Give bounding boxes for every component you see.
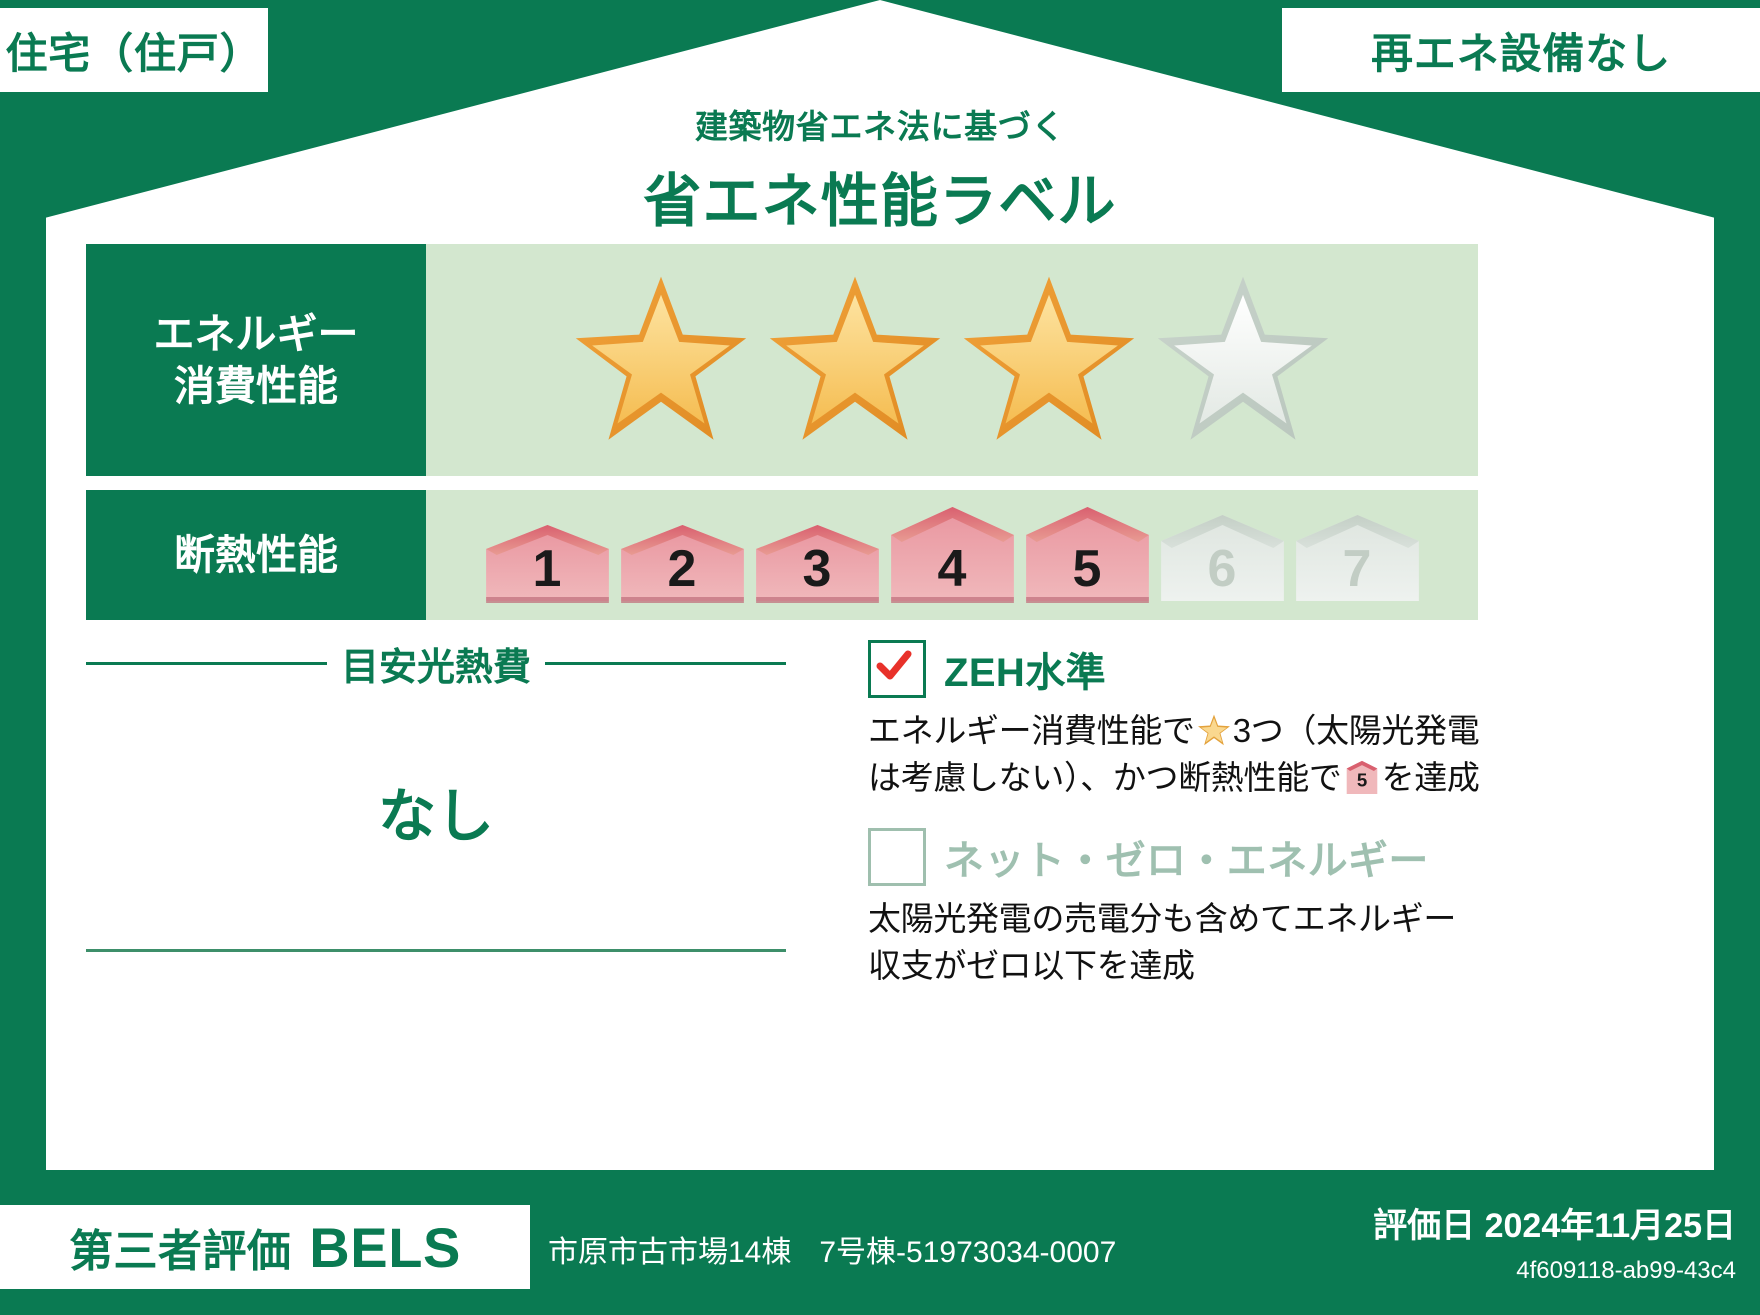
net-zero-block: ネット・ゼロ・エネルギー 太陽光発電の売電分も含めてエネルギー 収支がゼロ以下を… xyxy=(868,828,1488,990)
net-zero-title: ネット・ゼロ・エネルギー xyxy=(944,828,1429,886)
checkbox-unchecked-icon xyxy=(868,828,926,886)
utility-cost-section: 目安光熱費 なし xyxy=(86,636,786,952)
net-zero-desc-line1: 太陽光発電の売電分も含めてエネルギー xyxy=(868,900,1456,937)
inline-house-icon: 5 xyxy=(1345,760,1379,796)
zeh-standard-row: ZEH水準 xyxy=(868,640,1488,698)
title-subtitle: 建築物省エネ法に基づく xyxy=(0,100,1760,148)
insulation-grade-5-value: 5 xyxy=(1024,543,1151,595)
insulation-grade-3: 3 xyxy=(754,523,881,605)
energy-performance-row: エネルギー 消費性能 xyxy=(86,244,1478,476)
checkbox-checked-icon xyxy=(868,640,926,698)
star-icon-filled-3 xyxy=(958,273,1140,447)
energy-performance-label: エネルギー 消費性能 xyxy=(86,244,426,476)
utility-cost-bottom-rule xyxy=(86,949,786,952)
zeh-desc-part-d: を達成 xyxy=(1382,759,1480,796)
insulation-grade-1: 1 xyxy=(484,523,611,605)
energy-label-line2: 消費性能 xyxy=(154,360,359,412)
zeh-section: ZEH水準 エネルギー消費性能で3つ（太陽光発電 は考慮しない）、かつ断熱性能で… xyxy=(868,640,1488,989)
star-icon-filled-1 xyxy=(570,273,752,447)
insulation-performance-value: 1 2 3 xyxy=(426,490,1478,620)
evaluation-date: 評価日 2024年11月25日 xyxy=(1373,1198,1736,1247)
property-address: 市原市古市場14棟7号棟-51973034-0007 xyxy=(548,1227,1116,1271)
star-icon-filled-2 xyxy=(764,273,946,447)
title-block: 建築物省エネ法に基づく 省エネ性能ラベル xyxy=(0,100,1760,238)
insulation-grade-4: 4 xyxy=(889,505,1016,605)
insulation-grade-6-value: 6 xyxy=(1159,543,1286,595)
zeh-desc-part-b: 3つ（太陽光発電 xyxy=(1233,712,1480,749)
insulation-grade-scale: 1 2 3 xyxy=(484,505,1421,605)
badge-renewable-equipment: 再エネ設備なし xyxy=(1282,8,1760,92)
insulation-grade-2: 2 xyxy=(619,523,746,605)
svg-text:5: 5 xyxy=(1356,770,1366,791)
bels-acronym: BELS xyxy=(309,1215,461,1280)
utility-cost-heading-text: 目安光熱費 xyxy=(341,636,531,691)
insulation-performance-label: 断熱性能 xyxy=(86,490,426,620)
insulation-performance-row: 断熱性能 xyxy=(86,490,1478,620)
bels-energy-label: 住宅（住戸） 再エネ設備なし 建築物省エネ法に基づく 省エネ性能ラベル エネルギ… xyxy=(0,0,1760,1315)
insulation-grade-3-value: 3 xyxy=(754,543,881,595)
footer: 第三者評価 BELS 市原市古市場14棟7号棟-51973034-0007 評価… xyxy=(0,1175,1760,1315)
building-number: 7号棟-51973034-0007 xyxy=(819,1236,1116,1269)
zeh-standard-title: ZEH水準 xyxy=(944,640,1106,698)
insulation-grade-6: 6 xyxy=(1159,513,1286,605)
zeh-desc-part-a: エネルギー消費性能で xyxy=(868,712,1195,749)
insulation-grade-5: 5 xyxy=(1024,505,1151,605)
insulation-grade-1-value: 1 xyxy=(484,543,611,595)
utility-cost-value: なし xyxy=(86,769,786,853)
zeh-standard-description: エネルギー消費性能で3つ（太陽光発電 は考慮しない）、かつ断熱性能で5を達成 xyxy=(868,708,1488,802)
address-text: 市原市古市場14棟 xyxy=(548,1236,791,1269)
zeh-desc-part-c: は考慮しない）、かつ断熱性能で xyxy=(868,759,1342,796)
insulation-grade-4-value: 4 xyxy=(889,543,1016,595)
net-zero-row: ネット・ゼロ・エネルギー xyxy=(868,828,1488,886)
energy-label-line1: エネルギー xyxy=(154,308,359,360)
bels-japanese-label: 第三者評価 xyxy=(69,1215,291,1279)
page-title: 省エネ性能ラベル xyxy=(0,154,1760,238)
insulation-grade-7: 7 xyxy=(1294,513,1421,605)
net-zero-description: 太陽光発電の売電分も含めてエネルギー 収支がゼロ以下を達成 xyxy=(868,896,1488,990)
badge-building-type: 住宅（住戸） xyxy=(0,8,268,92)
heading-rule-left xyxy=(86,662,327,665)
insulation-grade-2-value: 2 xyxy=(619,543,746,595)
certificate-uid: 4f609118-ab99-43c4 xyxy=(1516,1257,1736,1285)
utility-cost-heading: 目安光熱費 xyxy=(86,636,786,691)
bels-logo: 第三者評価 BELS xyxy=(0,1205,530,1289)
insulation-grade-7-value: 7 xyxy=(1294,543,1421,595)
net-zero-desc-line2: 収支がゼロ以下を達成 xyxy=(868,947,1195,984)
heading-rule-right xyxy=(545,662,786,665)
energy-performance-value xyxy=(426,244,1478,476)
inline-star-icon xyxy=(1197,713,1231,747)
star-rating xyxy=(570,273,1334,447)
star-icon-empty-4 xyxy=(1152,273,1334,447)
